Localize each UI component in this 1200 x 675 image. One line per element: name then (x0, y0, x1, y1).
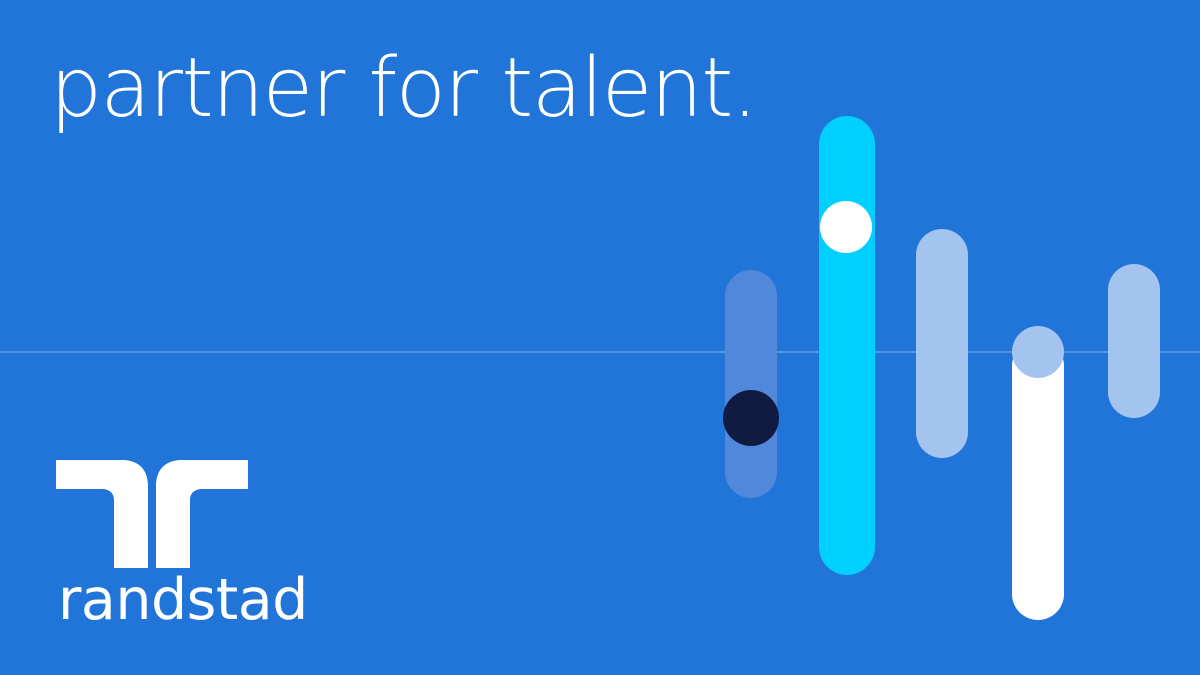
chart-bar (725, 270, 777, 498)
chart-bar (1108, 264, 1160, 418)
randstad-y-logo-icon (56, 460, 248, 568)
chart-dot (1012, 326, 1064, 378)
chart-bar (1012, 340, 1064, 620)
chart-dot (723, 390, 779, 446)
chart-bar (916, 229, 968, 458)
brand-banner: partner for talent. randstad (0, 0, 1200, 675)
chart-bar (819, 116, 875, 575)
brand-wordmark: randstad (58, 572, 308, 629)
chart-dot (820, 201, 872, 253)
brand-lockup: randstad (56, 460, 316, 630)
